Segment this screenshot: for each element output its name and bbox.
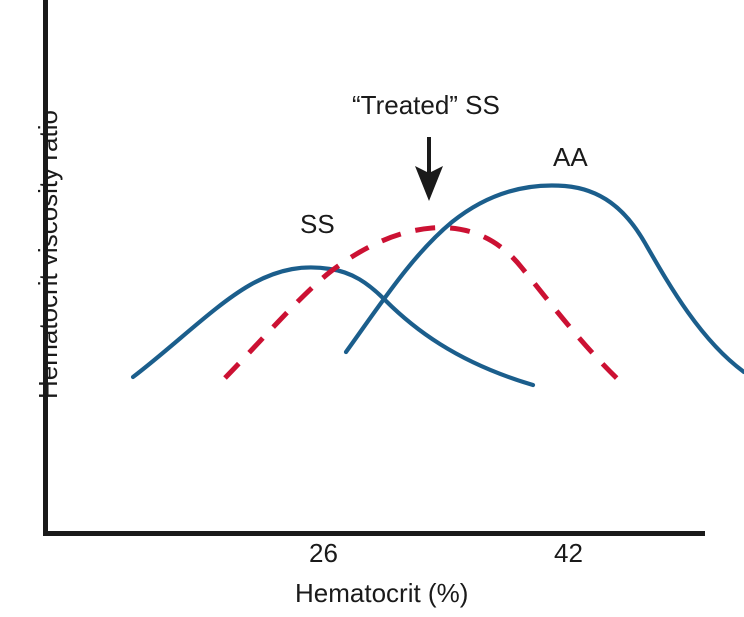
series-curve-ss xyxy=(133,267,533,385)
series-curve-treated-ss xyxy=(225,228,625,386)
chart-figure: “Treated” SS SS AA 26 42 Hematocrit (%) … xyxy=(0,0,744,617)
series-label-aa: AA xyxy=(553,144,588,170)
x-tick-label-26: 26 xyxy=(309,540,338,566)
y-axis-title: Hematocrit viscosity ratio xyxy=(35,139,61,399)
x-tick-label-42: 42 xyxy=(554,540,583,566)
series-label-ss: SS xyxy=(300,211,335,237)
series-curve-aa xyxy=(346,185,744,372)
annotation-label-treated-ss: “Treated” SS xyxy=(352,92,500,118)
x-axis-title: Hematocrit (%) xyxy=(295,580,468,606)
